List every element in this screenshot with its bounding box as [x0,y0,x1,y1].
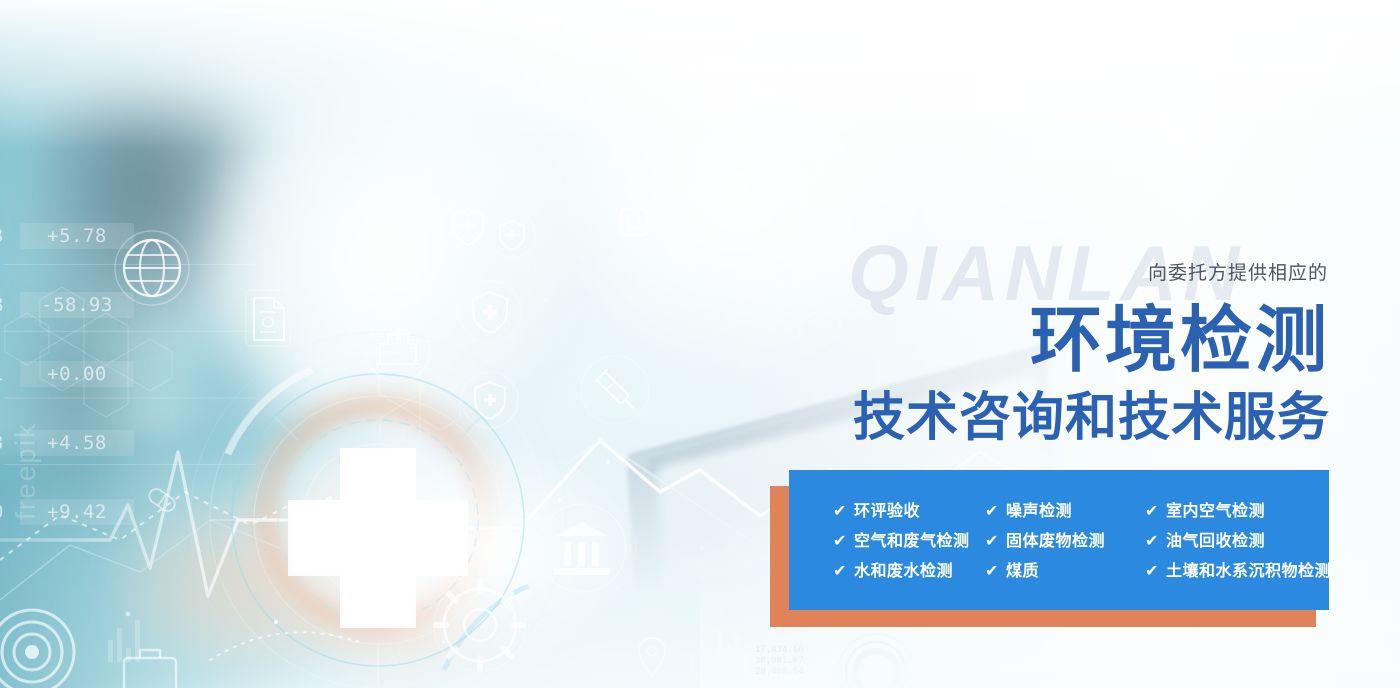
mini-line: 38,981.07 [755,656,804,667]
location-pin-icon [639,638,665,676]
mini-line: 17,434.66 [755,645,804,656]
check-icon: ✔ [833,500,847,524]
data-key: 78 [0,294,4,316]
check-icon: ✔ [1145,500,1159,524]
feature-item[interactable]: ✔ 水和废水检测 [833,560,985,584]
background-hand-1 [90,500,450,688]
feature-label: 土壤和水系沉积物检测 [1166,560,1331,584]
veil-top [0,0,1400,150]
data-key: 3 [0,432,4,454]
check-icon: ✔ [833,560,847,584]
feature-label: 空气和废气检测 [854,530,970,554]
stock-watermark: freepik [10,422,42,520]
banner-title-secondary: 技术咨询和技术服务 [853,392,1330,444]
feature-list: ✔ 环评验收 ✔ 噪声检测 ✔ 室内空气检测 ✔ 空气和废气检测 ✔ 固体 [833,500,1331,584]
feature-item[interactable]: ✔ 空气和废气检测 [833,530,985,554]
background-hand-3 [265,430,455,610]
background-figure-dark-2 [0,200,200,630]
data-row: 78 -58.93 [0,291,192,319]
data-row: 3 +4.58 [0,429,192,457]
background-keyboard-slab [0,404,380,688]
background-center-flare [300,400,720,688]
feature-item[interactable]: ✔ 煤质 [985,560,1145,584]
feature-item[interactable]: ✔ 噪声检测 [985,500,1145,524]
check-icon: ✔ [833,530,847,554]
data-value: +0.00 [20,361,134,387]
trend-line-2-icon [0,520,280,600]
data-key: 01 [0,363,4,385]
peak-line-icon [430,440,780,560]
data-row: 01 +0.00 [0,360,192,388]
dotted-arc-icon [210,632,360,660]
globe-icon [115,231,189,305]
background-figure-dark [30,80,290,440]
banner-kicker: 向委托方提供相应的 [1148,258,1328,285]
feature-label: 水和废水检测 [854,560,953,584]
data-value: -58.93 [20,292,134,318]
check-icon: ✔ [1145,560,1159,584]
hospital-building-icon [366,318,430,382]
bar-chart-icon [690,630,749,672]
syringe-icon [594,369,639,414]
overlay-mini-table: 17,434.66 38,981.07 20,408.54 [755,645,804,678]
hero-banner: 93 +5.78 78 -58.93 01 +0.00 3 +4.58 0 +9… [0,0,1400,688]
check-icon: ✔ [985,560,999,584]
hex-mesh-2-icon [380,238,840,454]
feature-label: 油气回收检测 [1166,530,1265,554]
shield-cross-icon [441,199,535,428]
dotted-trend-line-icon [0,492,300,560]
background-labcoat-3 [330,130,630,460]
circular-emblem-icon [838,634,914,688]
syringe-ring-icon [581,356,649,424]
check-icon: ✔ [1145,530,1159,554]
feature-item[interactable]: ✔ 油气回收检测 [1145,530,1331,554]
feature-label: 固体废物检测 [1006,530,1105,554]
background-labcoat-2 [520,0,980,430]
background-warm-ring-glow [210,350,540,680]
data-key: 93 [0,225,4,247]
bank-pillars-icon [528,494,636,602]
data-table-rules [0,222,260,512]
bar-chart-2-icon [108,620,140,662]
background-hand-2 [250,540,550,688]
medical-cross-icon [228,396,528,660]
gear-icon [434,579,526,671]
feature-item[interactable]: ✔ 环评验收 [833,500,985,524]
target-icon [0,610,74,688]
capsule-icon [147,486,178,514]
mini-line: 20,408.54 [755,667,804,678]
sparkle-dots-icon [126,230,704,644]
document-icon [246,290,290,346]
check-icon: ✔ [985,500,999,524]
app-square-icon [621,209,647,235]
overlay-data-table: 93 +5.78 78 -58.93 01 +0.00 3 +4.58 0 +9… [0,222,192,567]
feature-item[interactable]: ✔ 固体废物检测 [985,530,1145,554]
feature-box: ✔ 环评验收 ✔ 噪声检测 ✔ 室内空气检测 ✔ 空气和废气检测 ✔ 固体 [789,470,1329,610]
feature-item[interactable]: ✔ 室内空气检测 [1145,500,1331,524]
background-arm-teal [105,250,335,550]
background-labcoat-1 [150,60,630,530]
briefcase-icon [124,650,176,688]
feature-label: 煤质 [1006,560,1039,584]
data-key: 0 [0,501,4,523]
feature-item[interactable]: ✔ 土壤和水系沉积物检测 [1145,560,1331,584]
data-row: 93 +5.78 [0,222,192,250]
data-row: 0 +9.42 [0,498,192,526]
data-value: +9.42 [20,499,134,525]
hud-dial-icon [190,332,566,688]
feature-label: 噪声检测 [1006,500,1072,524]
banner-title-primary: 环境检测 [1030,305,1330,377]
feature-box-wrapper: ✔ 环评验收 ✔ 噪声检测 ✔ 室内空气检测 ✔ 空气和废气检测 ✔ 固体 [770,470,1350,640]
check-icon: ✔ [985,530,999,554]
feature-label: 环评验收 [854,500,920,524]
data-value: +4.58 [20,430,134,456]
feature-label: 室内空气检测 [1166,500,1265,524]
data-value: +5.78 [20,223,134,249]
hex-mesh-icon [5,287,172,417]
